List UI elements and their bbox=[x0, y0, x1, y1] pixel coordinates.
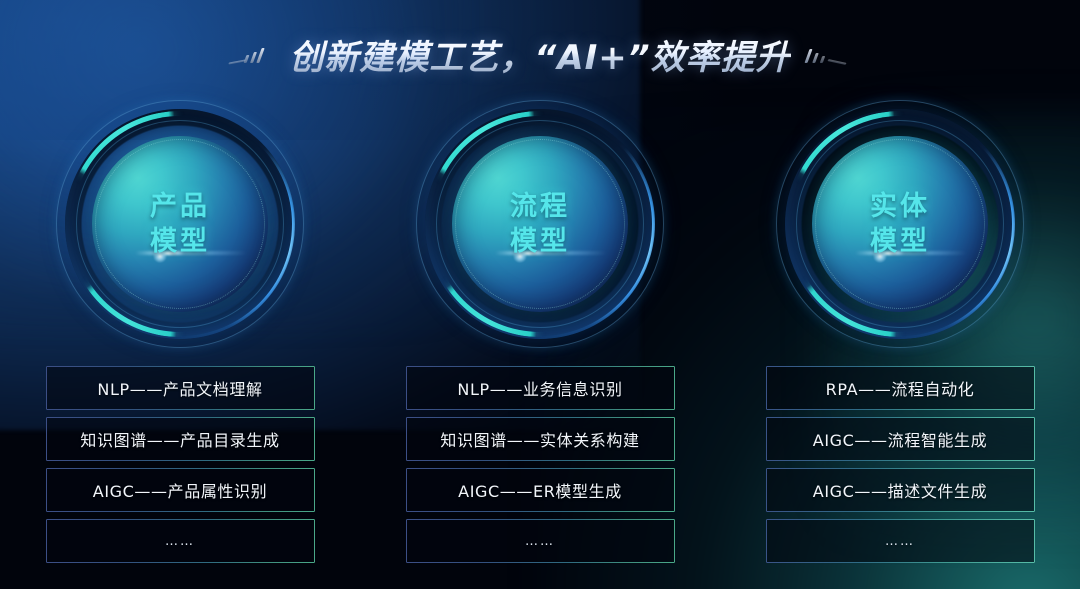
orb-dotted-ring bbox=[815, 139, 985, 309]
list-item-label: AIGC——描述文件生成 bbox=[813, 478, 987, 502]
list-item-label: …… bbox=[885, 534, 915, 549]
list-item-label: …… bbox=[525, 534, 555, 549]
orb-product-model[interactable]: 产品 模型 bbox=[56, 100, 304, 348]
list-item-label: …… bbox=[165, 534, 195, 549]
item-list-entity-model: RPA——流程自动化 AIGC——流程智能生成 AIGC——描述文件生成 …… bbox=[766, 366, 1035, 563]
list-item-label: NLP——产品文档理解 bbox=[97, 376, 262, 400]
list-item[interactable]: RPA——流程自动化 bbox=[766, 366, 1035, 410]
list-item-more[interactable]: …… bbox=[46, 519, 315, 563]
list-item[interactable]: NLP——产品文档理解 bbox=[46, 366, 315, 410]
column-entity-model: 实体 模型 RPA——流程自动化 AIGC——流程智能生成 AIGC——描述文件… bbox=[720, 96, 1080, 566]
list-item-label: 知识图谱——产品目录生成 bbox=[80, 427, 279, 451]
list-item[interactable]: 知识图谱——产品目录生成 bbox=[46, 417, 315, 461]
orb-dotted-ring bbox=[455, 139, 625, 309]
list-item[interactable]: AIGC——流程智能生成 bbox=[766, 417, 1035, 461]
speed-slash-right-icon bbox=[805, 41, 851, 67]
orb-flare-core bbox=[513, 249, 527, 263]
column-product-model: 产品 模型 NLP——产品文档理解 知识图谱——产品目录生成 AIGC——产品属… bbox=[0, 96, 360, 566]
list-item[interactable]: AIGC——描述文件生成 bbox=[766, 468, 1035, 512]
item-list-product-model: NLP——产品文档理解 知识图谱——产品目录生成 AIGC——产品属性识别 …… bbox=[46, 366, 315, 563]
list-item[interactable]: NLP——业务信息识别 bbox=[406, 366, 675, 410]
orb-process-model[interactable]: 流程 模型 bbox=[416, 100, 664, 348]
orb-entity-model[interactable]: 实体 模型 bbox=[776, 100, 1024, 348]
list-item[interactable]: 知识图谱——实体关系构建 bbox=[406, 417, 675, 461]
list-item[interactable]: AIGC——产品属性识别 bbox=[46, 468, 315, 512]
slide-canvas: 创新建模工艺，“AI+”效率提升 产品 模型 bbox=[0, 0, 1080, 589]
list-item-label: NLP——业务信息识别 bbox=[457, 376, 622, 400]
list-item-label: RPA——流程自动化 bbox=[826, 376, 975, 400]
list-item-more[interactable]: …… bbox=[766, 519, 1035, 563]
speed-slash-left-icon bbox=[229, 41, 275, 67]
list-item-label: AIGC——ER模型生成 bbox=[458, 478, 622, 502]
orb-dotted-ring bbox=[95, 139, 265, 309]
list-item-more[interactable]: …… bbox=[406, 519, 675, 563]
list-item-label: 知识图谱——实体关系构建 bbox=[440, 427, 639, 451]
item-list-process-model: NLP——业务信息识别 知识图谱——实体关系构建 AIGC——ER模型生成 …… bbox=[406, 366, 675, 563]
list-item[interactable]: AIGC——ER模型生成 bbox=[406, 468, 675, 512]
model-columns: 产品 模型 NLP——产品文档理解 知识图谱——产品目录生成 AIGC——产品属… bbox=[0, 96, 1080, 566]
column-process-model: 流程 模型 NLP——业务信息识别 知识图谱——实体关系构建 AIGC——ER模… bbox=[360, 96, 720, 566]
list-item-label: AIGC——产品属性识别 bbox=[93, 478, 267, 502]
list-item-label: AIGC——流程智能生成 bbox=[813, 427, 987, 451]
orb-flare-core bbox=[153, 249, 167, 263]
orb-flare-core bbox=[873, 249, 887, 263]
slide-title-bar: 创新建模工艺，“AI+”效率提升 bbox=[0, 24, 1080, 84]
page-title: 创新建模工艺，“AI+”效率提升 bbox=[289, 30, 790, 79]
